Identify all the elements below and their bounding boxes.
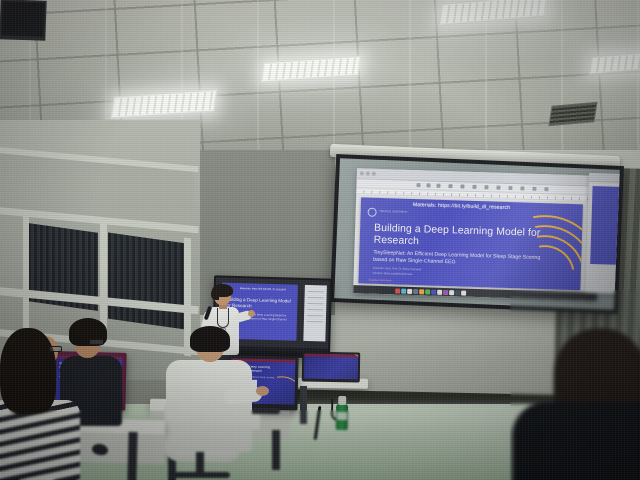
student-sweater (160, 330, 256, 480)
slide-accent-swoosh (483, 213, 583, 290)
projector-screen: Materials: https://bit.ly/build_dl_resea… (330, 154, 624, 314)
monitor-back-of-screen (0, 0, 47, 41)
secondary-window[interactable] (585, 173, 620, 294)
slide-title: Building a Deep Learning Model for Resea… (374, 223, 565, 252)
secondary-window-titlebar (589, 173, 620, 183)
desk-front-leg-2 (127, 432, 137, 480)
air-vent-2 (548, 102, 597, 126)
secondary-window-slide-preview (590, 186, 620, 265)
projector-screen-surface: Materials: https://bit.ly/build_dl_resea… (334, 158, 620, 310)
university-logo-label: MAHIDOL UNIVERSITY (380, 210, 408, 214)
slide-contact-line: Contact: akara.sup@mahidol.edu (373, 272, 413, 277)
desk-middle-leg-2 (272, 430, 280, 470)
presentation-slide: Materials: https://bit.ly/build_dl_resea… (358, 197, 583, 290)
presenter-right-hand (248, 310, 255, 317)
desk-rear-leg (300, 386, 307, 424)
monitor-back-panel (1, 1, 44, 36)
slides-app-window[interactable]: Materials: https://bit.ly/build_dl_resea… (353, 168, 601, 301)
student-striped-hair (0, 328, 56, 414)
student-striped (0, 330, 86, 480)
window-blinds-2 (108, 233, 186, 330)
presenter-lanyard (217, 308, 229, 328)
monitor-rear-screen (304, 354, 358, 380)
eyeglasses-icon (89, 339, 104, 345)
slide-footer-note: Creative Commons (368, 279, 391, 283)
monitor-rear-slide (304, 354, 358, 380)
student-sweater-hair (190, 326, 230, 352)
student-sweater-body (166, 360, 252, 452)
student-sweater-hand (256, 386, 269, 396)
presenter-hair-side (211, 288, 219, 300)
foreground-attendee (536, 328, 640, 480)
fire-extinguisher-label (337, 412, 347, 420)
monitor-rear (302, 351, 361, 382)
university-logo-icon (367, 208, 376, 217)
window-controls[interactable] (360, 171, 376, 176)
window-pane-2 (108, 233, 186, 330)
fire-extinguisher-handle (338, 396, 346, 405)
foreground-attendee-shoulders (512, 402, 640, 480)
slide-materials-url: Materials: https://bit.ly/build_dl_resea… (413, 202, 510, 211)
fire-extinguisher-icon (336, 396, 349, 430)
window-mullion-v1 (23, 216, 29, 337)
classroom-scene: Materials: https://bit.ly/build_dl_resea… (0, 0, 640, 480)
tv-speaker-notes-panel (303, 285, 327, 342)
student-striped-eyeglasses-icon (49, 346, 62, 352)
